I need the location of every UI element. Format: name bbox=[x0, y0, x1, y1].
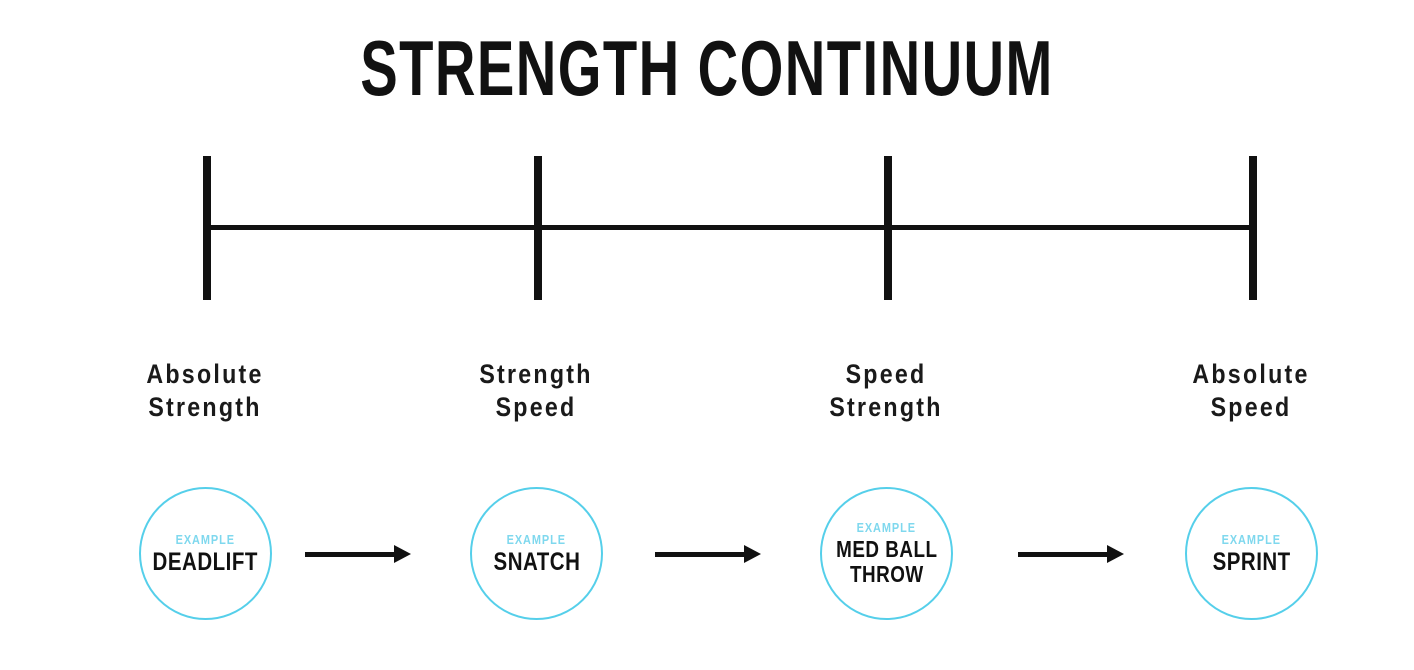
flow-arrow-icon-2 bbox=[655, 546, 761, 562]
axis-tick-1 bbox=[203, 156, 211, 300]
axis-line bbox=[207, 225, 1257, 230]
example-name: MED BALL THROW bbox=[836, 537, 937, 587]
flow-arrow-icon-3 bbox=[1018, 546, 1124, 562]
flow-arrow-icon-1 bbox=[305, 546, 411, 562]
stage-label-line1: Strength bbox=[479, 359, 592, 389]
arrow-shaft bbox=[305, 552, 395, 557]
axis-tick-3 bbox=[884, 156, 892, 300]
example-kicker: EXAMPLE bbox=[507, 532, 566, 547]
stage-label-line2: Strength bbox=[757, 391, 1015, 424]
strength-continuum-infographic: STRENGTH CONTINUUM Absolute Strength Str… bbox=[0, 0, 1414, 670]
continuum-axis bbox=[0, 0, 1414, 320]
example-kicker: EXAMPLE bbox=[176, 532, 235, 547]
stage-label-line2: Strength bbox=[76, 391, 334, 424]
example-name: SPRINT bbox=[1212, 549, 1290, 576]
arrow-shaft bbox=[655, 552, 745, 557]
stage-label-strength-speed: Strength Speed bbox=[407, 358, 665, 424]
example-name: DEADLIFT bbox=[153, 549, 258, 576]
example-kicker: EXAMPLE bbox=[857, 520, 916, 535]
example-circle-absolute-speed: EXAMPLE SPRINT bbox=[1185, 487, 1318, 620]
example-circle-absolute-strength: EXAMPLE DEADLIFT bbox=[139, 487, 272, 620]
stage-label-line1: Absolute bbox=[1192, 359, 1309, 389]
example-circle-strength-speed: EXAMPLE SNATCH bbox=[470, 487, 603, 620]
stage-label-absolute-speed: Absolute Speed bbox=[1122, 358, 1380, 424]
stage-label-line2: Speed bbox=[1122, 391, 1380, 424]
stage-label-line1: Absolute bbox=[146, 359, 263, 389]
stage-label-line1: Speed bbox=[846, 359, 927, 389]
example-circle-speed-strength: EXAMPLE MED BALL THROW bbox=[820, 487, 953, 620]
example-name: SNATCH bbox=[493, 549, 580, 576]
arrow-head bbox=[394, 545, 411, 563]
arrow-head bbox=[1107, 545, 1124, 563]
stage-label-absolute-strength: Absolute Strength bbox=[76, 358, 334, 424]
arrow-head bbox=[744, 545, 761, 563]
example-kicker: EXAMPLE bbox=[1222, 532, 1281, 547]
axis-tick-2 bbox=[534, 156, 542, 300]
stage-label-line2: Speed bbox=[407, 391, 665, 424]
stage-label-speed-strength: Speed Strength bbox=[757, 358, 1015, 424]
arrow-shaft bbox=[1018, 552, 1108, 557]
axis-tick-4 bbox=[1249, 156, 1257, 300]
